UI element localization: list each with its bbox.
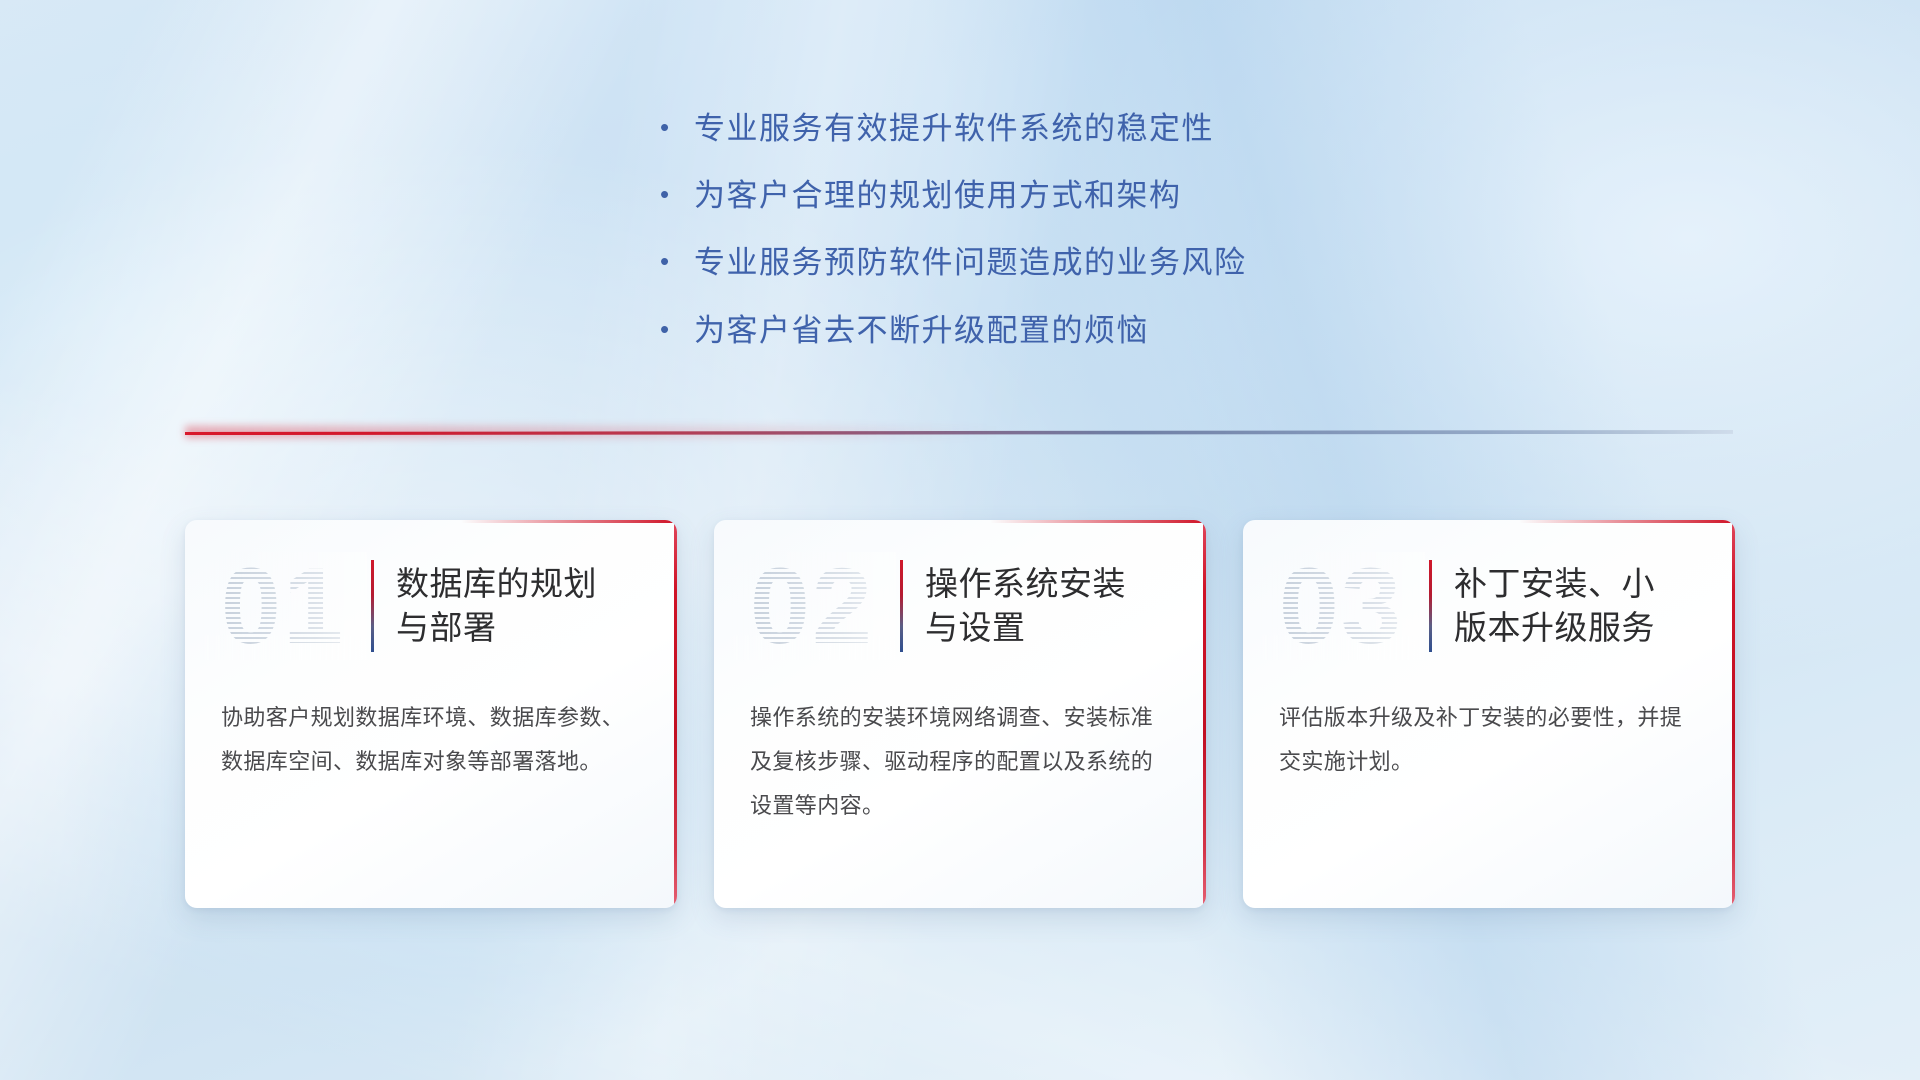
card-body-text: 操作系统的安装环境网络调查、安装标准及复核步骤、驱动程序的配置以及系统的设置等内… <box>714 692 1206 828</box>
service-card-02[interactable]: 02 操作系统安装与设置 操作系统的安装环境网络调查、安装标准及复核步骤、驱动程… <box>714 520 1206 908</box>
card-number-watermark: 03 <box>1257 552 1425 660</box>
list-item: • 为客户合理的规划使用方式和架构 <box>660 177 1480 214</box>
bullet-marker-icon: • <box>660 248 694 274</box>
card-title: 操作系统安装与设置 <box>925 562 1126 649</box>
bullet-text-1: 专业服务有效提升软件系统的稳定性 <box>694 110 1214 147</box>
bullet-marker-icon: • <box>660 181 694 207</box>
bullet-marker-icon: • <box>660 316 694 342</box>
card-number-watermark: 01 <box>199 552 367 660</box>
list-item: • 专业服务预防软件问题造成的业务风险 <box>660 244 1480 281</box>
list-item: • 专业服务有效提升软件系统的稳定性 <box>660 110 1480 147</box>
service-card-03[interactable]: 03 补丁安装、小版本升级服务 评估版本升级及补丁安装的必要性，并提交实施计划。 <box>1243 520 1735 908</box>
list-item: • 为客户省去不断升级配置的烦恼 <box>660 312 1480 349</box>
benefit-bullet-list: • 专业服务有效提升软件系统的稳定性 • 为客户合理的规划使用方式和架构 • 专… <box>660 110 1480 379</box>
card-title-rule <box>1429 560 1432 652</box>
bullet-marker-icon: • <box>660 114 694 140</box>
bullet-text-2: 为客户合理的规划使用方式和架构 <box>694 177 1182 214</box>
card-title-rule <box>900 560 903 652</box>
card-title: 数据库的规划与部署 <box>396 562 597 649</box>
card-header: 03 补丁安装、小版本升级服务 <box>1243 520 1735 692</box>
card-number-watermark: 02 <box>728 552 896 660</box>
card-header: 01 数据库的规划与部署 <box>185 520 677 692</box>
bullet-text-3: 专业服务预防软件问题造成的业务风险 <box>694 244 1247 281</box>
card-body-text: 协助客户规划数据库环境、数据库参数、数据库空间、数据库对象等部署落地。 <box>185 692 677 784</box>
service-card-01[interactable]: 01 数据库的规划与部署 协助客户规划数据库环境、数据库参数、数据库空间、数据库… <box>185 520 677 908</box>
bullet-text-4: 为客户省去不断升级配置的烦恼 <box>694 312 1149 349</box>
card-title: 补丁安装、小版本升级服务 <box>1454 562 1655 649</box>
card-body-text: 评估版本升级及补丁安装的必要性，并提交实施计划。 <box>1243 692 1735 784</box>
service-card-list: 01 数据库的规划与部署 协助客户规划数据库环境、数据库参数、数据库空间、数据库… <box>185 520 1735 920</box>
section-divider <box>185 424 1733 442</box>
card-title-rule <box>371 560 374 652</box>
card-header: 02 操作系统安装与设置 <box>714 520 1206 692</box>
slide-canvas: • 专业服务有效提升软件系统的稳定性 • 为客户合理的规划使用方式和架构 • 专… <box>0 0 1920 1080</box>
